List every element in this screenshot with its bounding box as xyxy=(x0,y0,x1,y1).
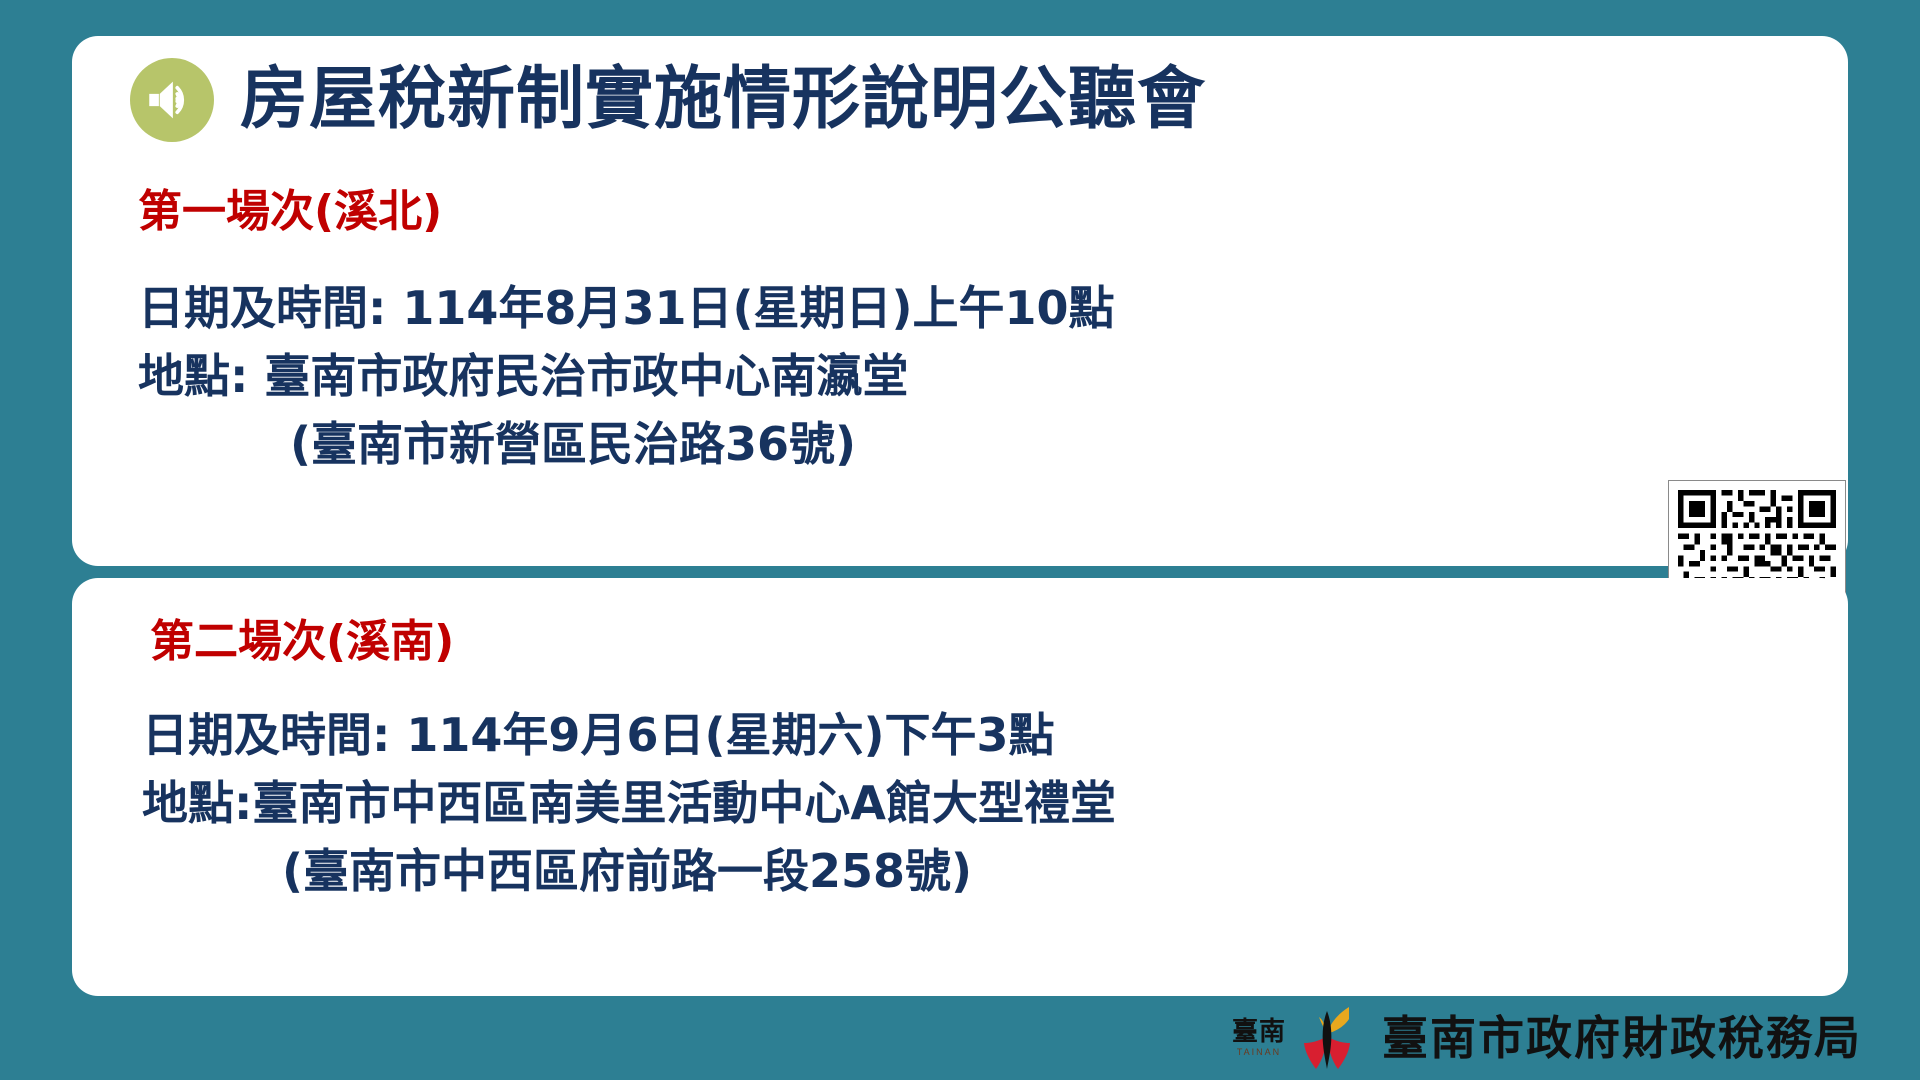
session-one-datetime: 日期及時間: 114年8月31日(星期日)上午10點 xyxy=(138,285,1115,331)
session-two-venue: 地點:臺南市中西區南美里活動中心A館大型禮堂 xyxy=(142,780,1116,826)
agency-name: 臺南市政府財政稅務局 xyxy=(1382,1015,1862,1061)
footer-bar: 臺南 TAINAN 臺南市政府財政稅務局 xyxy=(0,996,1920,1080)
page-title: 房屋稅新制實施情形說明公聽會 xyxy=(240,66,1206,134)
session-two-datetime: 日期及時間: 114年9月6日(星期六)下午3點 xyxy=(142,712,1055,758)
poster-canvas: 房屋稅新制實施情形說明公聽會 第一場次(溪北) 日期及時間: 114年8月31日… xyxy=(0,0,1920,1080)
tainan-seal-cn: 臺南 xyxy=(1232,1019,1286,1045)
poster-header: 房屋稅新制實施情形說明公聽會 xyxy=(130,58,1206,142)
session-one-address: (臺南市新營區民治路36號) xyxy=(290,421,856,467)
butterfly-mark-icon xyxy=(1292,1003,1364,1073)
tainan-butterfly-logo: 臺南 TAINAN xyxy=(1232,1003,1364,1073)
tainan-seal: 臺南 TAINAN xyxy=(1232,1019,1286,1057)
tainan-seal-en: TAINAN xyxy=(1237,1048,1281,1057)
session-two-address: (臺南市中西區府前路一段258號) xyxy=(282,848,972,894)
session-one-venue: 地點: 臺南市政府民治市政中心南瀛堂 xyxy=(138,353,908,399)
speaker-sound-icon xyxy=(130,58,214,142)
session-one-label: 第一場次(溪北) xyxy=(138,190,442,234)
session-two-label: 第二場次(溪南) xyxy=(150,620,454,664)
